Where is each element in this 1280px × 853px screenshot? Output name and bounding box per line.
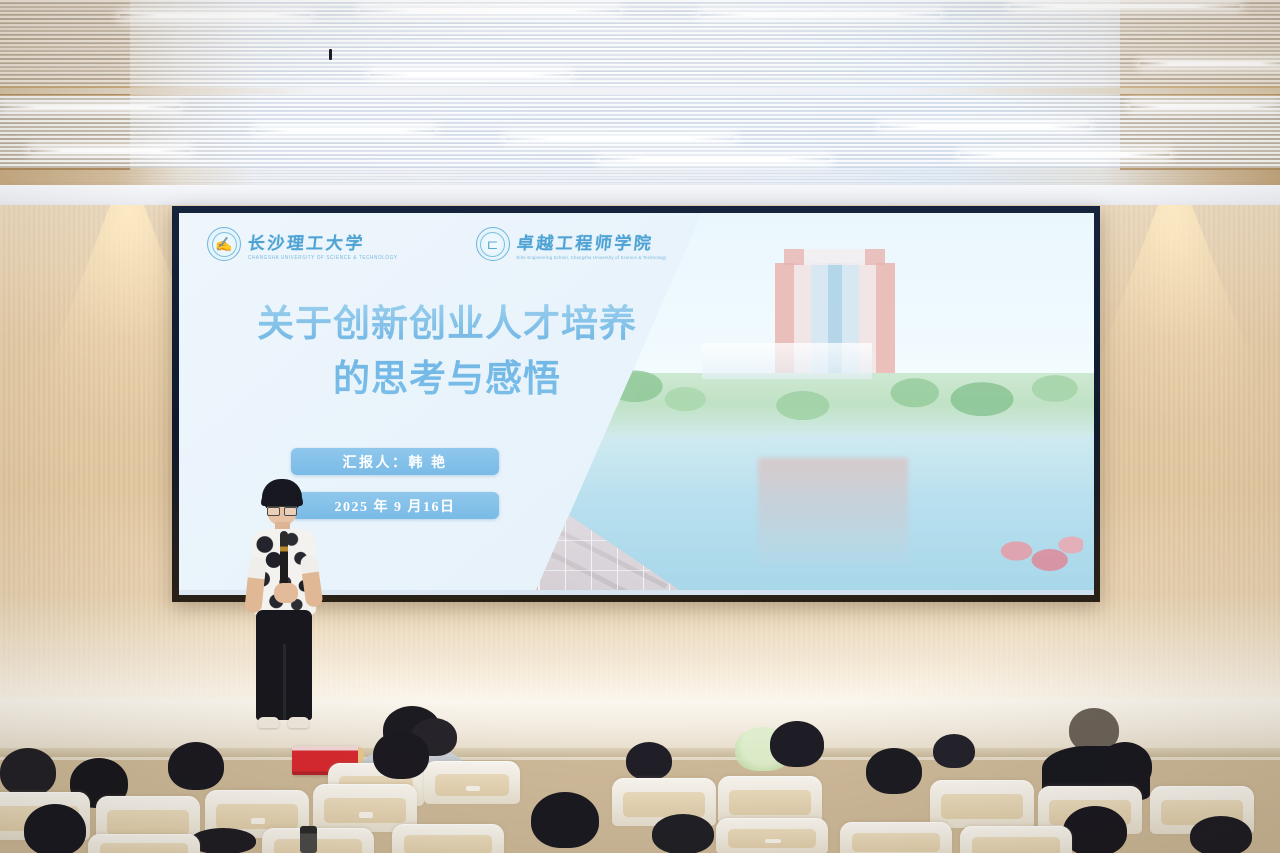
- seat-tag: [359, 812, 374, 818]
- glasses-icon: [267, 506, 297, 513]
- seat-tag: [251, 818, 266, 824]
- audience-head: [770, 721, 824, 767]
- audience-head: [0, 748, 56, 796]
- elite-engineering-school-emblem-icon: ⊏: [476, 227, 510, 261]
- audience-head: [626, 742, 672, 780]
- audience-seat: [262, 828, 374, 853]
- slide-logo-row: ✍ 长沙理工大学 CHANGSHA UNIVERSITY OF SCIENCE …: [207, 227, 1070, 261]
- seat-pad: [107, 810, 188, 835]
- audience-seat: [88, 834, 200, 853]
- audience-head: [168, 742, 224, 790]
- slide-title-line-1: 关于创新创业人才培养: [257, 303, 637, 344]
- logo-name-cn: 长沙理工大学: [247, 229, 399, 254]
- audience-head: [24, 804, 86, 853]
- pink-blossom-tree: [988, 527, 1083, 587]
- ceiling-light-strip: [960, 152, 1170, 156]
- ceiling-light-strip: [600, 158, 830, 162]
- audience-head: [1190, 816, 1252, 853]
- logo-text-block: 卓越工程师学院 Elite Engineering School, Changs…: [517, 229, 667, 260]
- slide-title-line-2: 的思考与感悟: [197, 352, 697, 407]
- ceiling-light-strip: [1010, 4, 1240, 8]
- audience-head: [373, 731, 429, 779]
- audience-head: [1098, 742, 1152, 790]
- ceiling-light-strip: [700, 12, 940, 16]
- ceiling: [0, 0, 1280, 200]
- seat-pad: [972, 837, 1059, 853]
- ceiling-light-strip: [30, 148, 190, 152]
- water-bottle: [300, 826, 317, 853]
- logo-text-block: 长沙理工大学 CHANGSHA UNIVERSITY OF SCIENCE & …: [248, 229, 398, 260]
- seat-tag: [466, 786, 479, 791]
- seat-pad: [729, 790, 810, 815]
- audience-head: [652, 814, 714, 853]
- seat-pad: [216, 804, 297, 829]
- audience-head: [933, 734, 975, 768]
- lecture-hall-scene: 新华社 ✍ 长沙理工大学 CHANGSHA UNIVERSITY OF SCIE…: [0, 0, 1280, 853]
- ceiling-light-strip: [120, 14, 310, 18]
- logo-name-cn: 卓越工程师学院: [515, 229, 668, 254]
- seat-pad: [623, 792, 704, 817]
- audience-seat: [716, 818, 828, 853]
- logo-elite-engineering-school: ⊏ 卓越工程师学院 Elite Engineering School, Chan…: [476, 227, 667, 261]
- presenter-fringe: [261, 489, 303, 506]
- seat-pad: [274, 839, 361, 853]
- seat-pad: [404, 835, 491, 853]
- smoke-detector-icon: [329, 49, 332, 60]
- ceiling-light-strip: [0, 105, 180, 109]
- audience-seat: [930, 780, 1034, 828]
- ceiling-light-strip: [1140, 62, 1280, 66]
- logo-name-en: CHANGSHA UNIVERSITY OF SCIENCE & TECHNOL…: [248, 254, 398, 260]
- ceiling-light-strip: [360, 8, 620, 12]
- changsha-university-emblem-icon: ✍: [207, 227, 241, 261]
- audience-head: [531, 792, 599, 848]
- audience-seating: [0, 700, 1280, 853]
- ceiling-light-strip: [255, 128, 435, 132]
- audience-seat: [392, 824, 504, 853]
- ceiling-slat-band-upper: [0, 0, 1280, 86]
- ceiling-light-strip: [505, 136, 735, 140]
- seat-pad: [324, 798, 405, 823]
- seat-pad: [852, 833, 939, 852]
- ceiling-light-strip: [1130, 104, 1280, 108]
- seat-pad: [941, 794, 1022, 819]
- presenter-hands: [274, 583, 298, 603]
- seat-tag: [765, 839, 781, 843]
- audience-head: [866, 748, 922, 794]
- logo-changsha-university: ✍ 长沙理工大学 CHANGSHA UNIVERSITY OF SCIENCE …: [207, 227, 398, 261]
- microphone-icon: [280, 531, 288, 591]
- building-reflection: [758, 458, 908, 565]
- presenter-badge: 汇报人：韩 艳: [291, 448, 499, 475]
- audience-seat: [960, 826, 1072, 853]
- audience-seat: [424, 761, 520, 804]
- ceiling-light-strip: [880, 124, 1090, 128]
- audience-seat: [840, 822, 952, 853]
- seat-pad: [100, 843, 187, 853]
- wall-downlight-right: [1070, 205, 1280, 435]
- slide-title: 关于创新创业人才培养 的思考与感悟: [197, 297, 697, 407]
- audience-head: [1063, 806, 1127, 853]
- ceiling-divider-beam: [0, 88, 1280, 94]
- ceiling-light-strip: [370, 72, 570, 76]
- audience-seat: [718, 776, 822, 824]
- logo-name-en: Elite Engineering School, Changsha Unive…: [517, 254, 667, 260]
